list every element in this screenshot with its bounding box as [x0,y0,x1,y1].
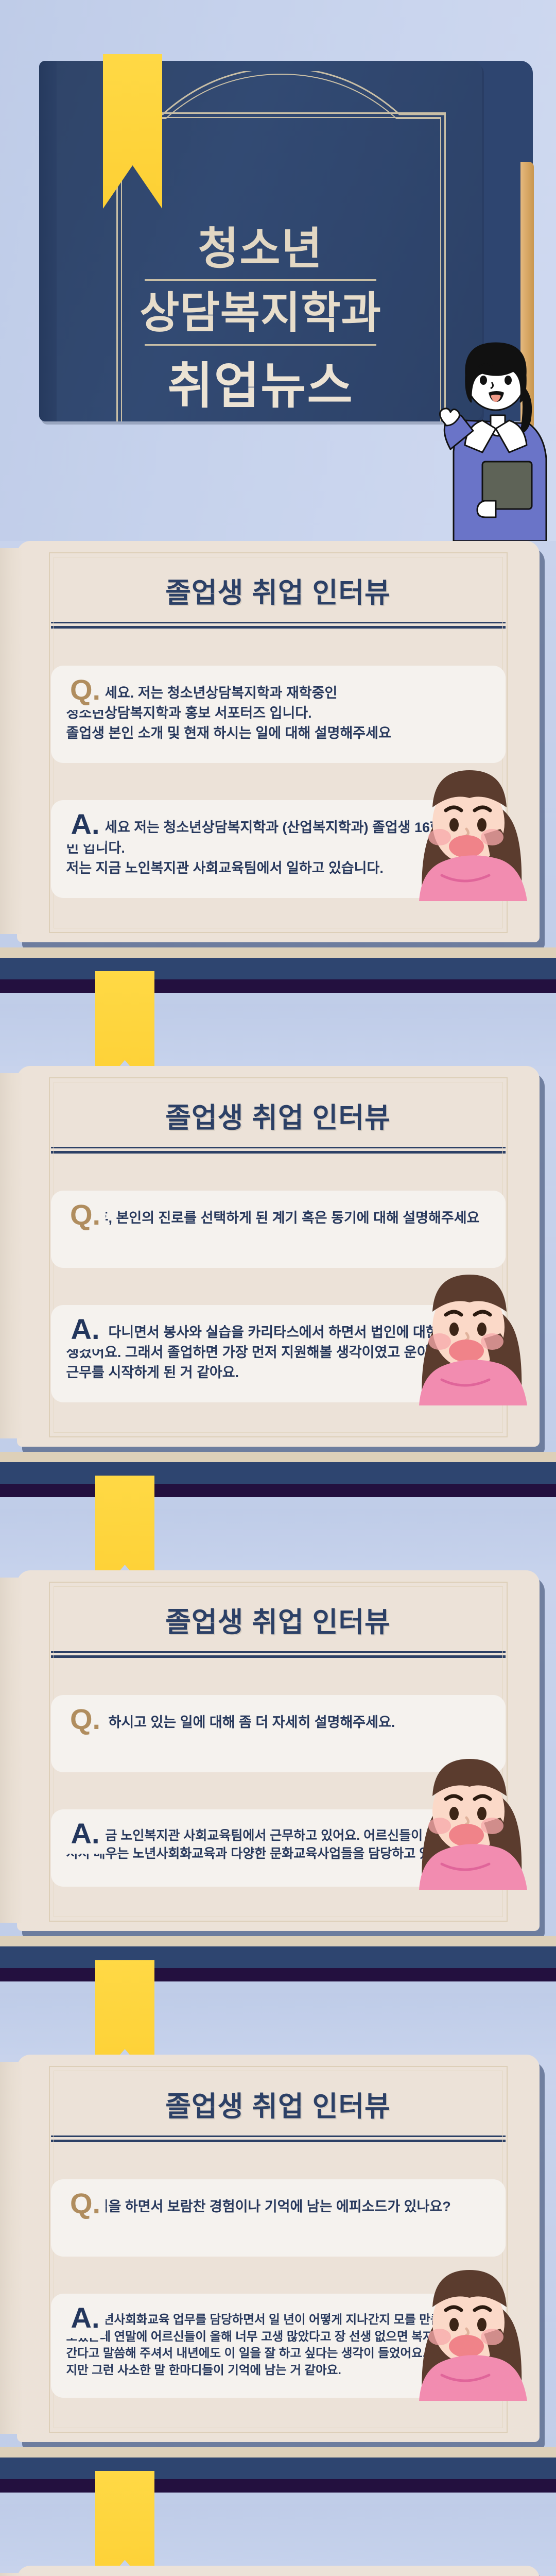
section-gap-2 [0,1509,556,1570]
interview-card-1: 졸업생 취업 인터뷰 Q. 안녕하세요. 저는 청소년상담복지학과 재학중인 청… [0,541,556,1066]
book-base-2 [0,1447,556,1509]
open-book-2: 졸업생 취업 인터뷰 Q. 졸업 후, 본인의 진로를 선택하게 된 계기 혹은… [17,1066,540,1447]
interview-card-5: 졸업생 취업 인터뷰 Q. 마지막으로 후배들에게 해주고싶은 말은? A. 취… [0,2566,556,2576]
book-base-1 [0,942,556,1004]
bookmark-ribbon-icon [95,1476,154,1570]
answer-badge-icon: A. [65,800,106,844]
qa-block-2: Q. 졸업 후, 본인의 진로를 선택하게 된 계기 혹은 동기에 대해 설명해… [44,1191,513,1402]
question-item-3: Q. 본인이 하시고 있는 일에 대해 좀 더 자세히 설명해주세요. [51,1695,506,1772]
cover-title-line3: 취업뉴스 [39,359,482,414]
answer-text-4: 처음 노년사회화교육 업무를 담당하면서 일 년이 어떻게 지나간지 모를 만큼… [51,2294,506,2398]
page-content-5: 졸업생 취업 인터뷰 Q. 마지막으로 후배들에게 해주고싶은 말은? A. 취… [44,2566,513,2576]
answer-item-2: A. 학교를 다니면서 봉사와 실습을 카리타스에서 하면서 법인에 대한 관심… [51,1305,506,1402]
question-text-2: 졸업 후, 본인의 진로를 선택하게 된 계기 혹은 동기에 대해 설명해주세요 [51,1191,506,1268]
cover-hero: 청소년 상담복지학과 취업뉴스 사회복지사-노인복지분야 [0,0,556,541]
bookmark-ribbon-icon [95,971,154,1066]
question-text-1: 안녕하세요. 저는 청소년상담복지학과 재학중인 청소년상담복지학과 홍보 서포… [51,666,506,763]
answer-item-1: A. 안녕하세요 저는 청소년상담복지학과 (산업복지학과) 졸업생 16학번 … [51,800,506,897]
bookmark-ribbon-icon [95,2471,154,2566]
book-base-3 [0,1931,556,1993]
answer-badge-icon: A. [65,2294,106,2338]
question-text-3: 본인이 하시고 있는 일에 대해 좀 더 자세히 설명해주세요. [51,1695,506,1772]
question-text-4: 그 직업을 하면서 보람찬 경험이나 기억에 남는 에피소드가 있나요? [51,2179,506,2257]
qa-block-3: Q. 본인이 하시고 있는 일에 대해 좀 더 자세히 설명해주세요. A. 저… [44,1695,513,1887]
page-content-3: 졸업생 취업 인터뷰 Q. 본인이 하시고 있는 일에 대해 좀 더 자세히 설… [44,1570,513,1931]
title-divider-1 [51,622,506,629]
cover-title-line2: 상담복지학과 [39,289,482,336]
page-content-4: 졸업생 취업 인터뷰 Q. 그 직업을 하면서 보람찬 경험이나 기억에 남는 … [44,2055,513,2442]
title-divider-4 [51,2136,506,2142]
open-book-5: 졸업생 취업 인터뷰 Q. 마지막으로 후배들에게 해주고싶은 말은? A. 취… [17,2566,540,2576]
page-content-1: 졸업생 취업 인터뷰 Q. 안녕하세요. 저는 청소년상담복지학과 재학중인 청… [44,541,513,942]
card-title-4: 졸업생 취업 인터뷰 [44,2083,513,2124]
cover-divider-top [145,279,376,281]
question-badge-icon: Q. [65,666,106,710]
answer-text-3: 저는 지금 노인복지관 사회교육팀에서 근무하고 있어요. 어르신들이 복지관에… [51,1809,506,1887]
question-item-4: Q. 그 직업을 하면서 보람찬 경험이나 기억에 남는 에피소드가 있나요? [51,2179,506,2257]
title-divider-3 [51,1651,506,1658]
question-item-1: Q. 안녕하세요. 저는 청소년상담복지학과 재학중인 청소년상담복지학과 홍보… [51,666,506,763]
answer-text-2: 학교를 다니면서 봉사와 실습을 카리타스에서 하면서 법인에 대한 관심이 생… [51,1305,506,1402]
answer-badge-icon: A. [65,1305,106,1349]
answer-item-3: A. 저는 지금 노인복지관 사회교육팀에서 근무하고 있어요. 어르신들이 복… [51,1809,506,1887]
question-badge-icon: Q. [65,2179,106,2224]
interviewer-avatar [435,319,556,541]
open-book-4: 졸업생 취업 인터뷰 Q. 그 직업을 하면서 보람찬 경험이나 기억에 남는 … [17,2055,540,2442]
qa-block-4: Q. 그 직업을 하면서 보람찬 경험이나 기억에 남는 에피소드가 있나요? … [44,2179,513,2398]
question-item-2: Q. 졸업 후, 본인의 진로를 선택하게 된 계기 혹은 동기에 대해 설명해… [51,1191,506,1268]
cover-divider-bottom [145,344,376,346]
interview-card-4: 졸업생 취업 인터뷰 Q. 그 직업을 하면서 보람찬 경험이나 기억에 남는 … [0,2055,556,2566]
infographic-page: 청소년 상담복지학과 취업뉴스 사회복지사-노인복지분야 [0,0,556,2576]
section-gap-3 [0,1993,556,2055]
open-book-3: 졸업생 취업 인터뷰 Q. 본인이 하시고 있는 일에 대해 좀 더 자세히 설… [17,1570,540,1931]
section-gap-1 [0,1004,556,1066]
card-title-3: 졸업생 취업 인터뷰 [44,1599,513,1640]
page-content-2: 졸업생 취업 인터뷰 Q. 졸업 후, 본인의 진로를 선택하게 된 계기 혹은… [44,1066,513,1447]
open-book-1: 졸업생 취업 인터뷰 Q. 안녕하세요. 저는 청소년상담복지학과 재학중인 청… [17,541,540,942]
answer-badge-icon: A. [65,1809,106,1854]
section-gap-4 [0,2504,556,2566]
qa-block-1: Q. 안녕하세요. 저는 청소년상담복지학과 재학중인 청소년상담복지학과 홍보… [44,666,513,898]
question-badge-icon: Q. [65,1695,106,1739]
bookmark-ribbon-icon [95,1960,154,2055]
cover-title-line1: 청소년 [39,226,482,272]
title-divider-2 [51,1147,506,1154]
question-badge-icon: Q. [65,1191,106,1235]
answer-item-4: A. 처음 노년사회화교육 업무를 담당하면서 일 년이 어떻게 지나간지 모를… [51,2294,506,2398]
card-title-2: 졸업생 취업 인터뷰 [44,1095,513,1136]
card-title-1: 졸업생 취업 인터뷰 [44,570,513,611]
interview-card-3: 졸업생 취업 인터뷰 Q. 본인이 하시고 있는 일에 대해 좀 더 자세히 설… [0,1570,556,2055]
interview-card-2: 졸업생 취업 인터뷰 Q. 졸업 후, 본인의 진로를 선택하게 된 계기 혹은… [0,1066,556,1570]
book-base-4 [0,2442,556,2504]
answer-text-1: 안녕하세요 저는 청소년상담복지학과 (산업복지학과) 졸업생 16학번 장선민… [51,800,506,897]
